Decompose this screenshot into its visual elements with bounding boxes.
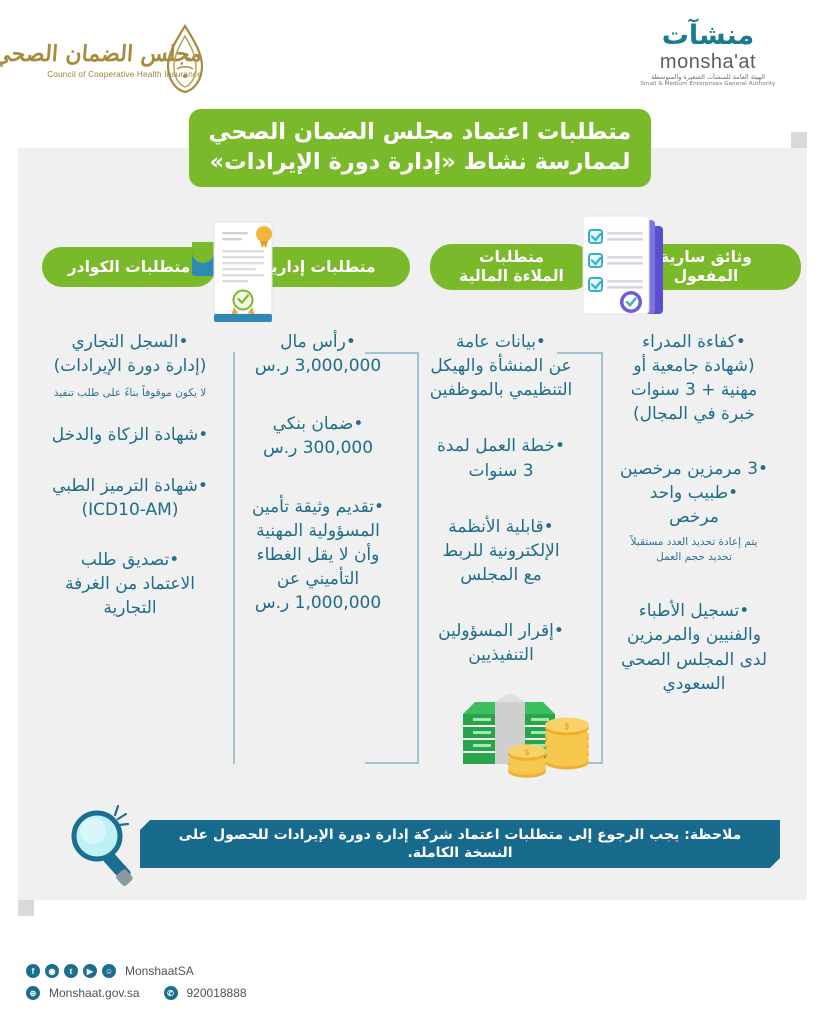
column-administrative: •بيانات عامة عن المنشأة والهيكل التنظيمي… [410,330,592,689]
staff-item1-line2: (شهادة جامعية أو [599,354,789,378]
list-item: •رأس مال 3,000,000 ر.س [229,330,407,378]
admin-item3-line3: مع المجلس [410,563,592,587]
docs-item1-line1: •السجل التجاري [35,330,225,354]
list-item: •تسجيل الأطباء والفنيين والمرمزين لدى ال… [599,599,789,696]
pill-staff-label: متطلبات الكوادر [68,258,191,277]
bracket-top-fin [365,352,419,354]
divider-admin-staff [601,352,603,764]
docs-item3-line2: (ICD10-AM) [82,498,179,522]
list-item: •السجل التجاري (إدارة دورة الإيرادات) [35,330,225,378]
monshaat-logo-english: monsha'at [613,51,803,73]
docs-footnote: لا يكون موقوفاً بناءً على طلب تنفيذ [35,386,225,401]
fin-item3-line3: وأن لا يقل الغطاء [229,543,407,567]
staff-item3-line1: •تسجيل الأطباء [599,599,789,623]
chi-logo: مجلس الضمان الصحي التعاوني Council of Co… [12,24,202,96]
staff-item1-line1: •كفاءة المدراء [599,330,789,354]
staff-item1-line4: خبرة في المجال) [599,402,789,426]
youtube-icon[interactable]: ▶ [83,964,97,978]
phone-icon[interactable]: ✆ [164,986,178,1000]
admin-item1-line1: •بيانات عامة [410,330,592,354]
instagram-icon[interactable]: ◉ [45,964,59,978]
fin-item1-line2: 3,000,000 ر.س [229,354,407,378]
staff-item2-line3: مرخص [599,505,789,529]
list-item: •تصديق طلب الاعتماد من الغرفة التجارية [35,548,225,620]
docs-item4-line3: التجارية [35,596,225,620]
money-stack-coins-icon: $ $ [455,674,595,782]
column-financial: •رأس مال 3,000,000 ر.س •ضمان بنكي 300,00… [229,330,407,637]
staff-item1-line3: مهنية + 3 سنوات [599,378,789,402]
fin-item2-line2: 300,000 ر.س [229,436,407,460]
note-banner-text: ملاحظة: يجب الرجوع إلى متطلبات اعتماد شر… [162,826,758,862]
list-item: •ضمان بنكي 300,000 ر.س [229,412,407,460]
column-staff: •كفاءة المدراء (شهادة جامعية أو مهنية + … [599,330,789,718]
title-line-2: لممارسة نشاط «إدارة دورة الإيرادات» [210,148,631,178]
list-item: •كفاءة المدراء (شهادة جامعية أو مهنية + … [599,330,789,427]
list-item: •خطة العمل لمدة 3 سنوات [410,434,592,482]
fin-item2-line1: •ضمان بنكي [229,412,407,436]
title-banner: متطلبات اعتماد مجلس الضمان الصحي لممارسة… [189,109,651,187]
staff-footnote-line2: تحديد حجم العمل [599,550,789,565]
bracket-top-docs [233,352,235,354]
monshaat-logo-subtitle-en: Small & Medium Enterprises General Autho… [613,81,803,88]
chi-calligraphy-mark-icon [162,24,208,94]
admin-item2-line1: •خطة العمل لمدة [410,434,592,458]
list-item: •تقديم وثيقة تأمين المسؤولية المهنية وأن… [229,495,407,616]
social-handle: MonshaatSA [125,964,194,978]
docs-item1-line2: (إدارة دورة الإيرادات) [35,354,225,378]
list-item: •شهادة الترميز الطبي (ICD10-AM) [35,474,225,522]
divider-fin-admin [233,352,235,764]
footer-contact-row: ⊕ Monshaat.gov.sa ✆ 920018888 [26,982,446,1004]
admin-item3-line2: الإلكترونية للربط [410,539,592,563]
title-line-1: متطلبات اعتماد مجلس الضمان الصحي [209,118,632,148]
pill-fin-line1: متطلبات [459,248,564,267]
docs-item4-line2: الاعتماد من الغرفة [35,572,225,596]
staff-item3-line2: والفنيين والمرمزين [599,623,789,647]
staff-footnote: يتم إعادة تحديد العدد مستقبلاً تحديد حجم… [599,535,789,565]
note-banner: ملاحظة: يجب الرجوع إلى متطلبات اعتماد شر… [140,820,780,868]
list-item: •إقرار المسؤولين التنفيذيين [410,619,592,667]
staff-item2-line2: •طبيب واحد [599,481,789,505]
fin-item3-line4: التأميني عن [229,567,407,591]
pill-fin-line2: الملاءة المالية [459,267,564,286]
snapchat-icon[interactable]: ☺ [102,964,116,978]
infographic-page: مجلس الضمان الصحي التعاوني Council of Co… [0,0,825,1024]
staff-item3-line3: لدى المجلس الصحي [599,648,789,672]
panel-notch-bottom [18,900,34,916]
monshaat-logo-arabic: منشآت [613,22,803,49]
document-certificate-icon [190,214,296,324]
docs-item3-line1: •شهادة الترميز الطبي [35,474,225,498]
divider-docs-fin [417,352,419,764]
staff-item3-line4: السعودي [599,672,789,696]
monshaat-logo: منشآت monsha'at الهيئة العامة للمنشآت ال… [613,22,803,100]
globe-icon[interactable]: ⊕ [26,986,40,1000]
footer-social-row: f ◉ t ▶ ☺ MonshaatSA [26,960,446,982]
fin-item3-line5: 1,000,000 ر.س [229,591,407,615]
magnifier-icon [62,800,146,892]
bracket-bot-fin [365,762,419,764]
list-item: •3 مرمزين مرخصين •طبيب واحد مرخص [599,457,789,529]
admin-item1-line3: التنظيمي بالموظفين [410,378,592,402]
header: مجلس الضمان الصحي التعاوني Council of Co… [0,0,825,110]
svg-text:$: $ [524,748,529,757]
facebook-icon[interactable]: f [26,964,40,978]
admin-item4-line1: •إقرار المسؤولين [410,619,592,643]
checklist-document-icon [567,212,685,324]
admin-item3-line1: •قابلية الأنظمة [410,515,592,539]
website-label[interactable]: Monshaat.gov.sa [49,986,140,1000]
footer: f ◉ t ▶ ☺ MonshaatSA ⊕ Monshaat.gov.sa ✆… [26,960,446,1008]
list-item: •قابلية الأنظمة الإلكترونية للربط مع الم… [410,515,592,587]
column-docs: •السجل التجاري (إدارة دورة الإيرادات) لا… [35,330,225,642]
phone-label[interactable]: 920018888 [187,986,247,1000]
panel-notch-top [791,132,807,148]
fin-item3-line2: المسؤولية المهنية [229,519,407,543]
staff-item2-line1: •3 مرمزين مرخصين [599,457,789,481]
list-item: •شهادة الزكاة والدخل [35,423,225,447]
admin-item4-line2: التنفيذيين [410,643,592,667]
twitter-icon[interactable]: t [64,964,78,978]
svg-text:$: $ [564,722,570,732]
admin-item2-line2: 3 سنوات [410,459,592,483]
monshaat-logo-subtitle-ar: الهيئة العامة للمنشآت الصغيرة والمتوسطة [613,73,803,81]
admin-item1-line2: عن المنشأة والهيكل [410,354,592,378]
fin-item3-line1: •تقديم وثيقة تأمين [229,495,407,519]
staff-footnote-line1: يتم إعادة تحديد العدد مستقبلاً [599,535,789,550]
bracket-top-admin [557,352,603,354]
docs-item4-line1: •تصديق طلب [35,548,225,572]
fin-item1-line1: •رأس مال [229,330,407,354]
list-item: •بيانات عامة عن المنشأة والهيكل التنظيمي… [410,330,592,402]
